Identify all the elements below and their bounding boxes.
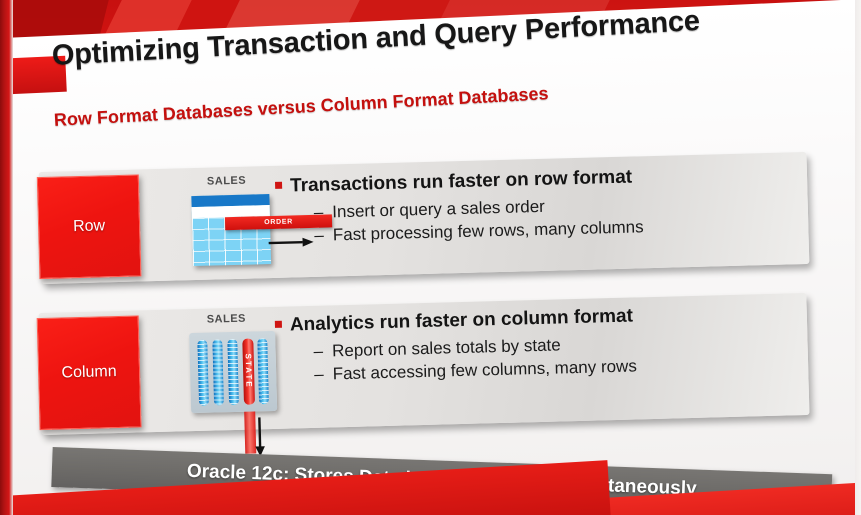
row-sub-bullet-text: Insert or query a sales order [332, 197, 545, 223]
column-bar [227, 339, 239, 405]
dash-icon: – [313, 342, 323, 362]
dash-icon: – [314, 203, 324, 223]
column-bar-state: STATE [242, 338, 255, 404]
bullet-square-icon [275, 321, 282, 328]
panel-row-format: Row SALES ORDER Transactions run faster … [39, 152, 810, 284]
column-graphic-caption: SALES [207, 313, 246, 326]
column-bar [212, 339, 224, 405]
row-headline: Transactions run faster on row format [275, 166, 643, 198]
dash-icon: – [314, 365, 324, 385]
list-item: – Fast accessing few columns, many rows [314, 356, 637, 384]
column-bar [257, 338, 269, 404]
column-sub-bullets: – Report on sales totals by state – Fast… [275, 333, 637, 385]
column-bullet-list: Analytics run faster on column format – … [275, 305, 637, 385]
row-headline-text: Transactions run faster on row format [290, 167, 633, 198]
panel-column-format: Column SALES STATE Analytics [39, 293, 810, 435]
slide-subtitle: Row Format Databases versus Column Forma… [53, 83, 549, 131]
column-headline-text: Analytics run faster on column format [290, 306, 634, 337]
bullet-square-icon [275, 182, 282, 189]
left-red-border [0, 0, 13, 515]
row-sub-bullets: – Insert or query a sales order – Fast p… [276, 194, 644, 247]
badge-column-label: Column [61, 363, 117, 382]
arrow-down-icon [253, 417, 266, 457]
presentation-slide: Optimizing Transaction and Query Perform… [0, 0, 861, 515]
row-bullet-list: Transactions run faster on row format – … [275, 166, 644, 247]
badge-row: Row [37, 174, 142, 279]
column-sub-bullet-text: Report on sales totals by state [332, 335, 561, 361]
column-bar [197, 340, 209, 406]
slide-title: Optimizing Transaction and Query Perform… [51, 5, 701, 73]
badge-row-label: Row [73, 217, 105, 236]
dash-icon: – [314, 226, 324, 246]
column-bars-graphic: STATE [189, 331, 277, 413]
slide-content: Optimizing Transaction and Query Perform… [0, 0, 861, 515]
row-sub-bullet-text: Fast processing few rows, many columns [333, 217, 644, 245]
row-graphic-caption: SALES [207, 175, 246, 188]
badge-column: Column [37, 315, 142, 430]
column-sub-bullet-text: Fast accessing few columns, many rows [332, 356, 637, 384]
right-border [855, 0, 861, 515]
column-headline: Analytics run faster on column format [275, 305, 636, 336]
state-bar-label: STATE [244, 354, 254, 389]
